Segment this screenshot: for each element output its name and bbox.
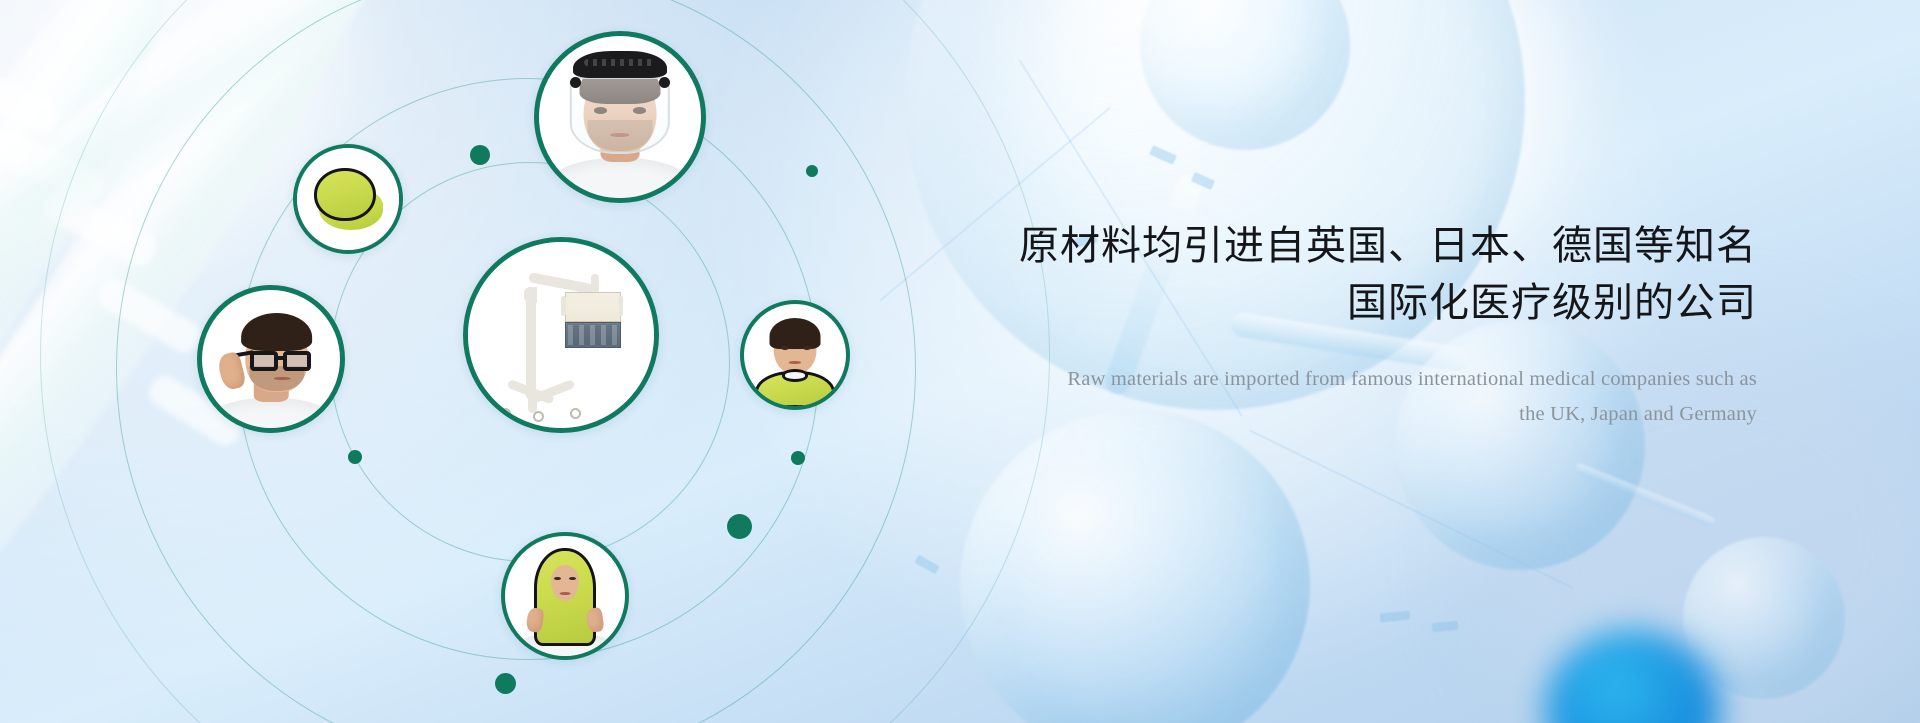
molecule-sphere [1683,537,1845,699]
face-shield-visor [570,77,670,155]
panel-bracket-left [561,296,566,316]
hero-banner: 原材料均引进自英国、日本、德国等知名 国际化医疗级别的公司 Raw materi… [0,0,1920,723]
haze-bloom [0,0,340,240]
hand-adjusting-glasses [216,351,247,391]
dna-helix-rung [0,57,63,137]
man-wearing-lead-glasses-illustration [202,290,340,428]
decor-tick [914,555,939,575]
orbit-node-dot [495,673,516,694]
woman-wearing-thyroid-collar-illustration [744,304,846,406]
face-shield-headband [573,51,667,79]
face-shield-knob-left [570,77,581,88]
stand-elbow [524,287,537,304]
decor-tick [1191,172,1215,190]
hair [770,318,821,349]
decor-tick [1380,610,1411,622]
stand-caster [533,411,544,422]
decor-tick [1432,621,1459,633]
subtitle-line-1: Raw materials are imported from famous i… [957,362,1757,397]
molecule-bond [1574,462,1717,527]
mouth [560,592,571,595]
bubble-lead-protective-cap[interactable] [293,144,403,254]
hair [241,313,313,350]
man-wearing-x-ray-face-shield-illustration [539,36,701,198]
dna-helix-rung [94,275,205,358]
dna-helix-rung [0,126,109,207]
cap-crown [314,168,375,221]
torso [542,158,698,204]
eye-right [803,346,811,350]
molecule-accent-sphere [1545,630,1720,723]
eyebrow-left [254,347,269,351]
molecule-sphere [1140,0,1350,150]
bubble-man-lead-glasses[interactable] [197,285,345,433]
lead-glasses-lens-left [250,351,278,372]
eyebrow-right [288,347,303,351]
radiation-shield-panel [565,292,621,322]
headline-line-1: 原材料均引进自英国、日本、德国等知名 [957,218,1757,275]
banner-copy: 原材料均引进自英国、日本、德国等知名 国际化医疗级别的公司 Raw materi… [957,218,1757,432]
bubble-man-face-shield[interactable] [534,31,706,203]
mobile-radiation-shield-stand-illustration [468,242,654,428]
dna-helix-strand [0,0,492,289]
bubble-woman-protective-hood[interactable] [501,532,629,660]
stand-arm-drop [591,274,599,294]
bubble-woman-thyroid-collar[interactable] [740,300,850,410]
orbit-node-dot [806,165,818,177]
lead-glasses-bridge [275,356,286,360]
stand-caster [570,408,581,419]
dna-helix-rung [39,184,161,270]
stand-base-leg [528,395,537,414]
orbit-node-dot [791,451,805,465]
stand-pole [526,294,536,400]
lead-glasses-lens-right [283,351,311,372]
molecule-sphere [960,410,1310,723]
decor-tick [1149,145,1177,165]
eye-left [781,346,789,350]
panel-bracket-right [619,296,624,316]
thyroid-collar-opening [782,369,809,381]
stand-caster [500,408,511,419]
subtitle: Raw materials are imported from famous i… [957,362,1757,433]
radiation-shield-skirt [565,322,621,348]
bubble-mobile-radiation-shield[interactable] [463,237,659,433]
dna-helix-strand [0,0,229,723]
orbit-node-dot [348,450,362,464]
lead-protective-cap-illustration [297,148,399,250]
torso [203,398,338,433]
hand-left [525,607,544,633]
orbit-node-dot [470,145,490,165]
stand-arm [528,272,596,295]
woman-wearing-protective-hood-illustration [505,536,625,656]
orbit-node-dot [727,514,752,539]
headline-line-2: 国际化医疗级别的公司 [957,275,1757,332]
decor-line [1249,430,1573,589]
face-shield-knob-right [659,77,670,88]
subtitle-line-2: the UK, Japan and Germany [957,397,1757,432]
